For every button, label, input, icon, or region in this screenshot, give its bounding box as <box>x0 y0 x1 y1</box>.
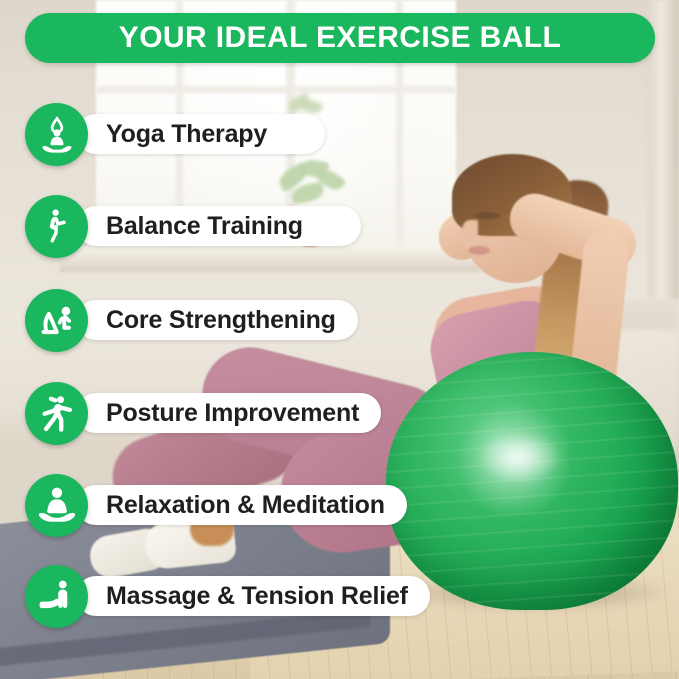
feature-row-relaxation-meditation[interactable]: Relaxation & Meditation <box>25 473 407 537</box>
feature-list: Yoga Therapy Balance Training <box>0 0 679 679</box>
feature-row-yoga-therapy[interactable]: Yoga Therapy <box>25 102 325 166</box>
feature-row-posture-improvement[interactable]: Posture Improvement <box>25 381 381 445</box>
feature-pill: Massage & Tension Relief <box>76 576 430 616</box>
feature-label: Yoga Therapy <box>106 120 267 149</box>
feature-label: Balance Training <box>106 212 303 241</box>
feature-row-balance-training[interactable]: Balance Training <box>25 194 361 258</box>
feature-pill: Posture Improvement <box>76 393 381 433</box>
feature-label: Core Strengthening <box>106 306 336 335</box>
feature-pill: Yoga Therapy <box>76 114 325 154</box>
meditation-seated-lotus-icon <box>25 474 88 537</box>
feature-label: Massage & Tension Relief <box>106 582 408 611</box>
posture-warrior-stretch-icon <box>25 382 88 445</box>
feature-row-massage-tension-relief[interactable]: Massage & Tension Relief <box>25 564 430 628</box>
infographic-canvas: YOUR IDEAL EXERCISE BALL Yoga Therapy <box>0 0 679 679</box>
massage-lying-down-icon <box>25 565 88 628</box>
feature-label: Relaxation & Meditation <box>106 491 385 520</box>
feature-pill: Relaxation & Meditation <box>76 485 407 525</box>
core-crunch-situp-icon <box>25 289 88 352</box>
balance-tree-pose-icon <box>25 195 88 258</box>
feature-label: Posture Improvement <box>106 399 359 428</box>
yoga-lotus-arms-up-icon <box>25 103 88 166</box>
feature-pill: Core Strengthening <box>76 300 358 340</box>
feature-row-core-strengthening[interactable]: Core Strengthening <box>25 288 358 352</box>
feature-pill: Balance Training <box>76 206 361 246</box>
